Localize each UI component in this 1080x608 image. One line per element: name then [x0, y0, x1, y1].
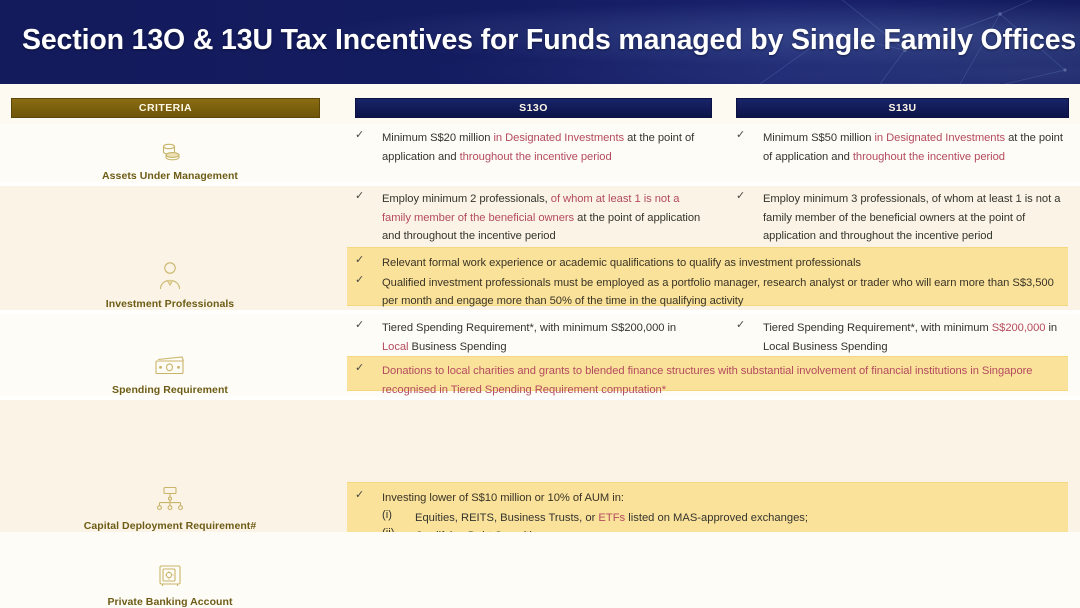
body-text: Qualified investment professionals must … — [382, 277, 1054, 308]
body-text: Equities, REITS, Business Trusts, or — [415, 512, 598, 524]
change-highlight: Local — [382, 341, 409, 353]
coins-stack-icon — [155, 140, 185, 167]
checkmark-icon: ✓ — [355, 361, 364, 377]
criteria-label: Investment Professionals — [106, 298, 234, 310]
checkmark-icon: ✓ — [355, 253, 364, 269]
column-header-criteria-label: CRITERIA — [139, 102, 192, 114]
criteria-label: Assets Under Management — [102, 170, 238, 182]
criteria-cell-investment-professionals: Investment Professionals — [0, 186, 340, 310]
criteria-cell-aum: Assets Under Management — [0, 124, 340, 182]
checkmark-icon: ✓ — [736, 318, 745, 334]
body-text: Minimum S$50 million — [763, 132, 874, 144]
body-text: Employ minimum 2 professionals, — [382, 193, 551, 205]
cell-s13o-investment-professionals: ✓Employ minimum 2 professionals, of whom… — [355, 189, 705, 246]
roman-list-item: (i)Equities, REITS, Business Trusts, or … — [355, 508, 1060, 527]
change-highlight: in Designated Investments — [874, 132, 1005, 144]
requirement-bullet: ✓Employ minimum 2 professionals, of whom… — [355, 189, 705, 245]
cell-s13u-aum: ✓Minimum S$50 million in Designated Inve… — [736, 128, 1068, 166]
title-banner: Section 13O & 13U Tax Incentives for Fun… — [0, 0, 1080, 84]
requirement-bullet: ✓Minimum S$20 million in Designated Inve… — [355, 128, 707, 165]
column-header-s13o-label: S13O — [519, 102, 548, 114]
checkmark-icon: ✓ — [355, 273, 364, 289]
requirement-bullet: ✓Minimum S$50 million in Designated Inve… — [736, 128, 1068, 165]
roman-numeral: (i) — [382, 508, 392, 524]
body-text: Business Spending — [409, 341, 507, 353]
checkmark-icon: ✓ — [736, 189, 745, 205]
column-header-s13o: S13O — [355, 98, 712, 118]
body-text: Tiered Spending Requirement*, with minim… — [763, 322, 992, 334]
change-highlight: throughout the incentive period — [853, 151, 1005, 163]
column-header-criteria: CRITERIA — [11, 98, 320, 118]
checkmark-icon: ✓ — [355, 318, 364, 334]
body-text: Tiered Spending Requirement*, with minim… — [382, 322, 676, 334]
criteria-label: Spending Requirement — [112, 384, 228, 396]
cell-s13o-spending-requirement: ✓Tiered Spending Requirement*, with mini… — [355, 318, 705, 356]
checkmark-icon: ✓ — [355, 189, 364, 205]
change-highlight: throughout the incentive period — [460, 151, 612, 163]
shared-requirements-band-spending-requirement: ✓Donations to local charities and grants… — [347, 356, 1068, 391]
body-text: Relevant formal work experience or acade… — [382, 257, 861, 269]
page-title: Section 13O & 13U Tax Incentives for Fun… — [22, 24, 1052, 57]
body-text: Employ minimum 3 professionals, of whom … — [763, 193, 1060, 242]
requirement-bullet: ✓Tiered Spending Requirement*, with mini… — [736, 318, 1068, 355]
requirement-bullet: ✓Relevant formal work experience or acad… — [355, 253, 1060, 272]
column-header-s13u-label: S13U — [888, 102, 916, 114]
change-highlight: Donations to local charities and grants … — [382, 365, 1032, 396]
change-highlight: ETFs — [598, 512, 625, 524]
cell-s13o-aum: ✓Minimum S$20 million in Designated Inve… — [355, 128, 707, 166]
body-text: listed on MAS-approved exchanges; — [625, 512, 808, 524]
checkmark-icon: ✓ — [736, 128, 745, 144]
column-header-s13u: S13U — [736, 98, 1069, 118]
safe-vault-icon — [157, 564, 183, 593]
banknote-icon — [153, 356, 187, 381]
checkmark-icon: ✓ — [355, 488, 364, 504]
cell-s13u-investment-professionals: ✓Employ minimum 3 professionals, of whom… — [736, 189, 1068, 246]
body-text: Minimum S$20 million — [382, 132, 493, 144]
change-highlight: S$200,000 — [992, 322, 1046, 334]
criteria-cell-spending-requirement: Spending Requirement — [0, 314, 340, 396]
requirement-bullet: ✓Tiered Spending Requirement*, with mini… — [355, 318, 705, 355]
incentives-table: CRITERIA S13O S13U Assets Under Man — [0, 84, 1080, 608]
slide-root: Section 13O & 13U Tax Incentives for Fun… — [0, 0, 1080, 608]
org-chart-icon — [153, 486, 187, 517]
change-highlight: in Designated Investments — [493, 132, 624, 144]
requirement-bullet: ✓Qualified investment professionals must… — [355, 273, 1060, 310]
requirement-bullet: ✓Employ minimum 3 professionals, of whom… — [736, 189, 1068, 245]
cell-s13u-spending-requirement: ✓Tiered Spending Requirement*, with mini… — [736, 318, 1068, 356]
professional-person-icon — [156, 260, 184, 295]
body-text: Investing lower of S$10 million or 10% o… — [382, 492, 624, 504]
requirement-bullet: ✓Investing lower of S$10 million or 10% … — [355, 488, 1060, 507]
criteria-cell-private-banking-account: Private Banking Account — [0, 528, 340, 608]
criteria-cell-capital-deployment: Capital Deployment Requirement# — [0, 400, 340, 532]
requirement-bullet: ✓Donations to local charities and grants… — [355, 361, 1060, 398]
criteria-label: Private Banking Account — [107, 596, 232, 608]
shared-requirements-band-investment-professionals: ✓Relevant formal work experience or acad… — [347, 247, 1068, 306]
checkmark-icon: ✓ — [355, 128, 364, 144]
